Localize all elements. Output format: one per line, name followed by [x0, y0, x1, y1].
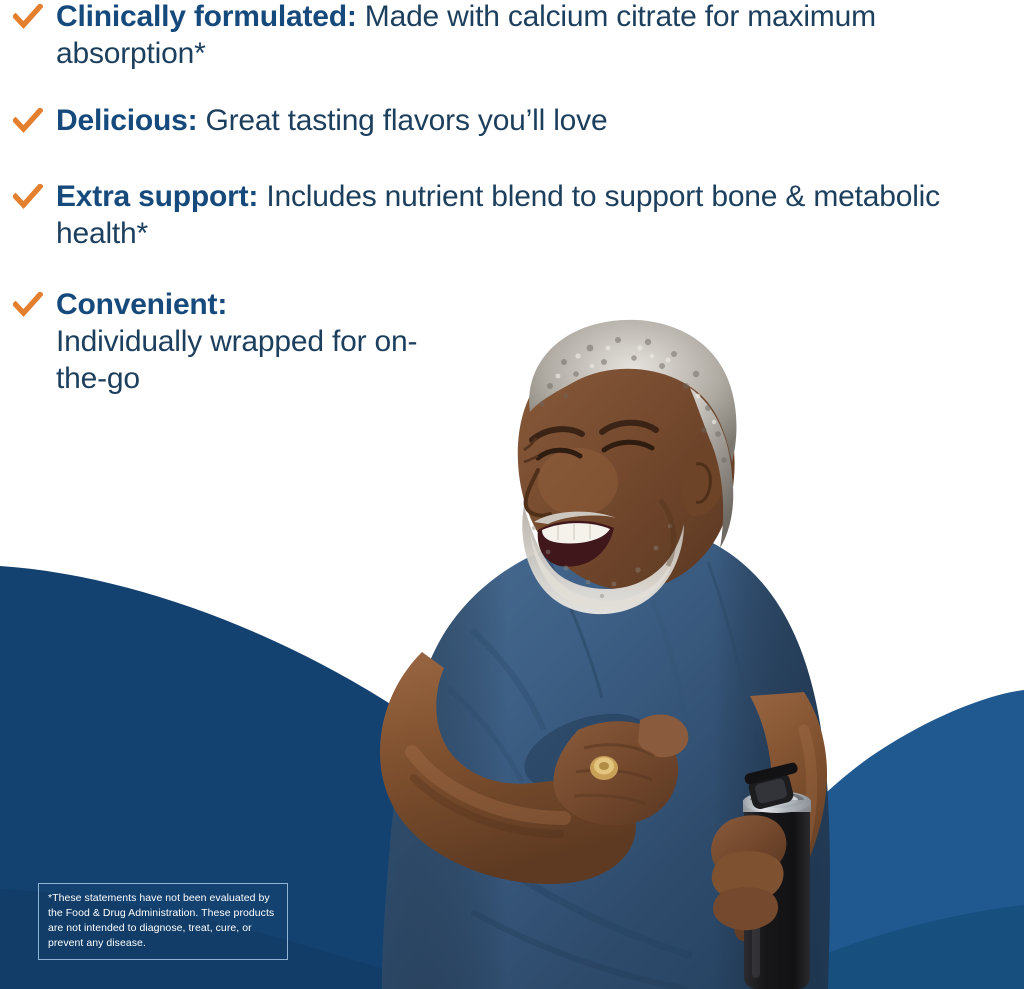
disclaimer-box: *These statements have not been evaluate…: [38, 883, 288, 960]
check-icon: [13, 4, 43, 30]
benefit-text: Delicious: Great tasting flavors you’ll …: [56, 102, 960, 139]
benefit-item: Convenient:Individually wrapped for on-t…: [0, 286, 960, 398]
benefit-lead: Convenient:: [56, 286, 446, 323]
benefit-rest: Great tasting flavors you’ll love: [197, 104, 607, 137]
benefit-text: Clinically formulated: Made with calcium…: [56, 0, 960, 72]
benefit-text: Convenient:Individually wrapped for on-t…: [56, 286, 446, 398]
benefit-lead: Clinically formulated:: [56, 0, 357, 33]
disclaimer-text: *These statements have not been evaluate…: [48, 891, 278, 951]
check-icon: [13, 108, 43, 134]
benefit-text: Extra support: Includes nutrient blend t…: [56, 178, 960, 252]
benefit-item: Delicious: Great tasting flavors you’ll …: [0, 102, 960, 139]
check-icon-wrap: [0, 286, 56, 318]
check-icon-wrap: [0, 0, 56, 30]
benefit-lead: Extra support:: [56, 180, 258, 213]
check-icon: [13, 184, 43, 210]
benefit-lead: Delicious:: [56, 104, 197, 137]
check-icon: [13, 292, 43, 318]
check-icon-wrap: [0, 102, 56, 134]
marketing-panel: Clinically formulated: Made with calcium…: [0, 0, 1024, 989]
benefits-list: Clinically formulated: Made with calcium…: [0, 0, 960, 398]
benefit-rest: Individually wrapped for on-the-go: [56, 325, 417, 395]
gold-signet-ring: [590, 756, 618, 780]
benefit-item: Extra support: Includes nutrient blend t…: [0, 178, 960, 252]
benefit-item: Clinically formulated: Made with calcium…: [0, 0, 960, 72]
photo-man-with-water-bottle: [352, 300, 912, 989]
check-icon-wrap: [0, 178, 56, 210]
